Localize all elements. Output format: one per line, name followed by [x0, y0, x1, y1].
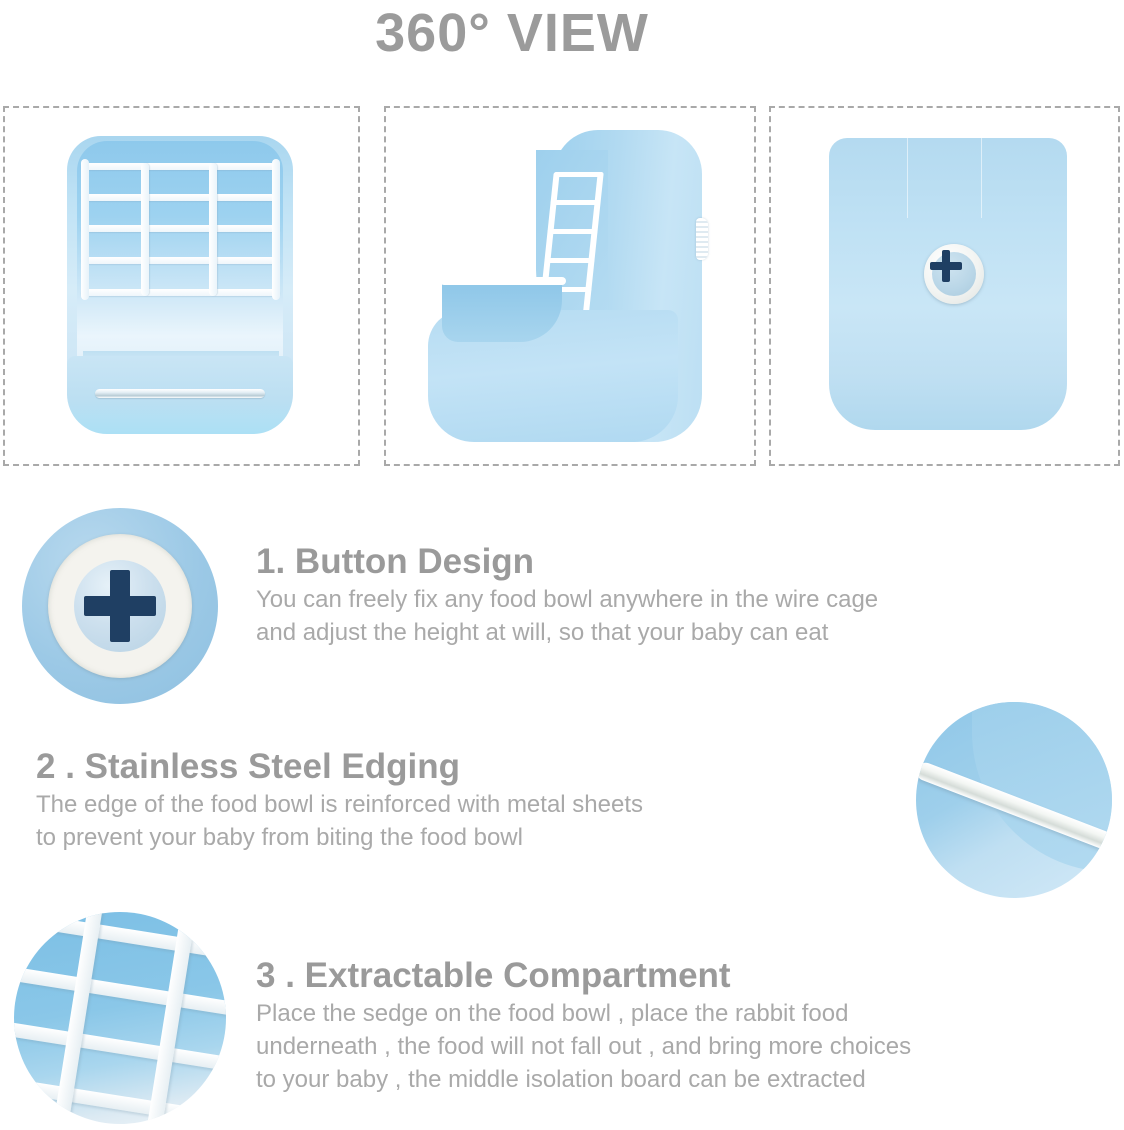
back-view-image	[771, 108, 1118, 464]
feature-stainless-steel-edging: 2 . Stainless Steel Edging The edge of t…	[36, 746, 643, 854]
feature-1-line-2: and adjust the height at will, so that y…	[256, 616, 878, 649]
feature-2-line-1: The edge of the food bowl is reinforced …	[36, 788, 643, 821]
view-panel-front	[3, 106, 360, 466]
view-panel-side	[384, 106, 756, 466]
side-view-image	[386, 108, 754, 464]
feature-3-line-3: to your baby , the middle isolation boar…	[256, 1063, 911, 1096]
feature-3-line-1: Place the sedge on the food bowl , place…	[256, 997, 911, 1030]
page-title: 360° VIEW	[0, 2, 1124, 64]
view-panel-group	[3, 106, 1121, 466]
feature-1-heading: 1. Button Design	[256, 541, 878, 583]
feature-1-line-1: You can freely fix any food bowl anywher…	[256, 583, 878, 616]
fixing-knob-icon	[696, 218, 708, 260]
steel-edging-closeup-icon	[916, 702, 1112, 898]
feature-2-heading: 2 . Stainless Steel Edging	[36, 746, 643, 788]
feature-2-line-2: to prevent your baby from biting the foo…	[36, 821, 643, 854]
product-infographic: 360° VIEW	[0, 0, 1124, 1130]
bowl-cavity-lip	[440, 277, 566, 285]
feature-extractable-compartment: 3 . Extractable Compartment Place the se…	[256, 955, 911, 1096]
cross-button-icon	[924, 244, 984, 304]
feature-button-design: 1. Button Design You can freely fix any …	[256, 541, 878, 649]
view-panel-back	[769, 106, 1120, 466]
button-closeup-icon	[22, 508, 218, 704]
grid-compartment-closeup-icon	[14, 912, 226, 1124]
front-view-image	[5, 108, 358, 464]
stainless-steel-strip	[95, 389, 265, 398]
feature-3-heading: 3 . Extractable Compartment	[256, 955, 911, 997]
feature-3-line-2: underneath , the food will not fall out …	[256, 1030, 911, 1063]
grid-sedge	[81, 163, 280, 296]
bowl-open-cavity	[442, 280, 562, 342]
